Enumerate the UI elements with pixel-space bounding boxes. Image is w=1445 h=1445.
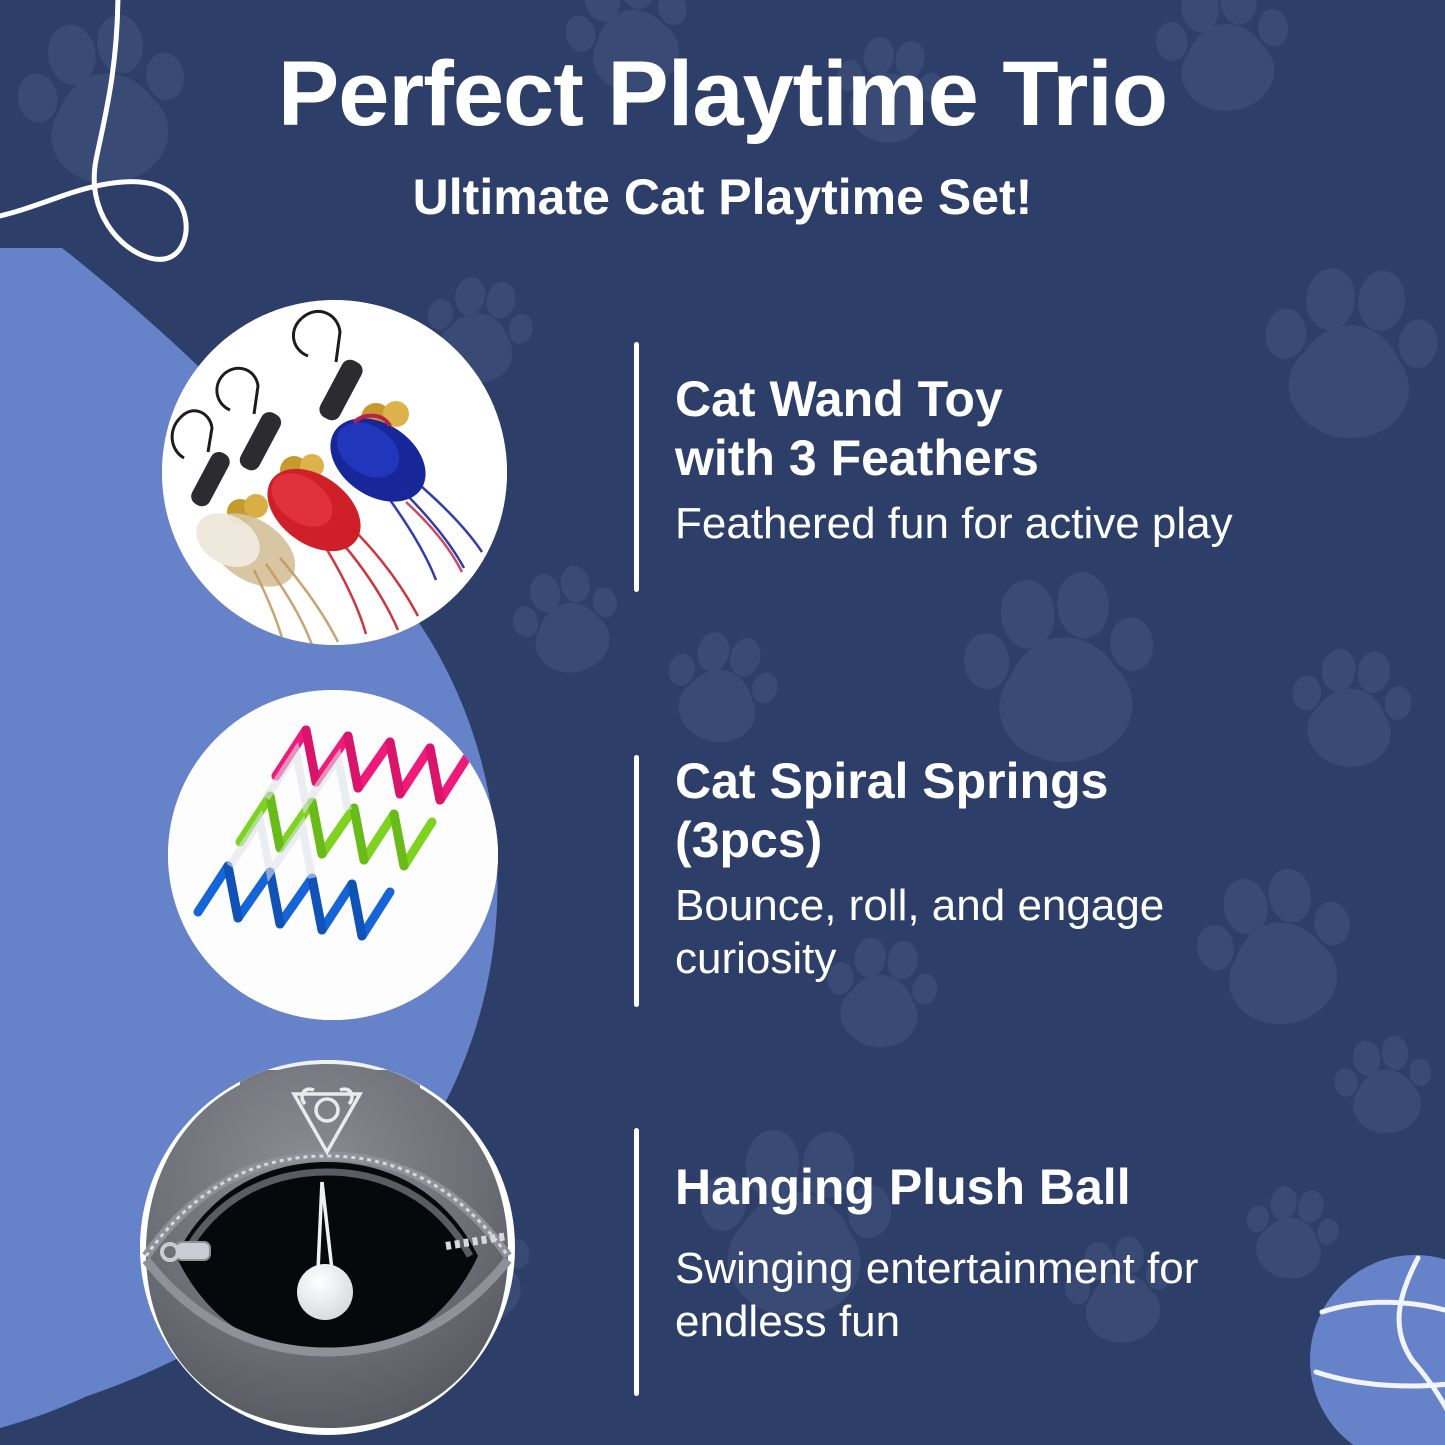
feature-divider-2 xyxy=(634,755,639,1007)
header: Perfect Playtime Trio Ultimate Cat Playt… xyxy=(0,0,1445,222)
feature-description-line1: Swinging entertainment for xyxy=(675,1243,1198,1296)
page-subtitle: Ultimate Cat Playtime Set! xyxy=(0,172,1445,222)
feature-divider-3 xyxy=(634,1128,639,1396)
feature-title-line2: (3pcs) xyxy=(675,811,1164,870)
feature-title-line1: Cat Spiral Springs xyxy=(675,752,1164,811)
feature-text-spiral-springs: Cat Spiral Springs (3pcs) Bounce, roll, … xyxy=(675,752,1164,986)
infographic-canvas: Perfect Playtime Trio Ultimate Cat Playt… xyxy=(0,0,1445,1445)
feature-divider-1 xyxy=(634,342,639,592)
feature-row-wand-toy xyxy=(0,300,507,645)
feature-row-hanging-plush-ball xyxy=(0,1060,515,1435)
feature-title-line2: with 3 Feathers xyxy=(675,429,1233,488)
feature-description: Feathered fun for active play xyxy=(675,498,1233,551)
feature-description-line1: Bounce, roll, and engage xyxy=(675,880,1164,933)
product-image-cat-wand-toy xyxy=(162,300,507,645)
feature-text-wand-toy: Cat Wand Toy with 3 Feathers Feathered f… xyxy=(675,370,1233,551)
product-image-hanging-plush-ball xyxy=(140,1060,515,1435)
feature-text-hanging-plush-ball: Hanging Plush Ball Swinging entertainmen… xyxy=(675,1158,1198,1349)
feature-description-line2: endless fun xyxy=(675,1296,1198,1349)
feature-title-line1: Hanging Plush Ball xyxy=(675,1158,1198,1217)
page-title: Perfect Playtime Trio xyxy=(0,48,1445,140)
feature-description-line2: curiosity xyxy=(675,933,1164,986)
feature-row-spiral-springs xyxy=(0,690,498,1020)
product-image-cat-spiral-springs xyxy=(168,690,498,1020)
feature-title-line1: Cat Wand Toy xyxy=(675,370,1233,429)
